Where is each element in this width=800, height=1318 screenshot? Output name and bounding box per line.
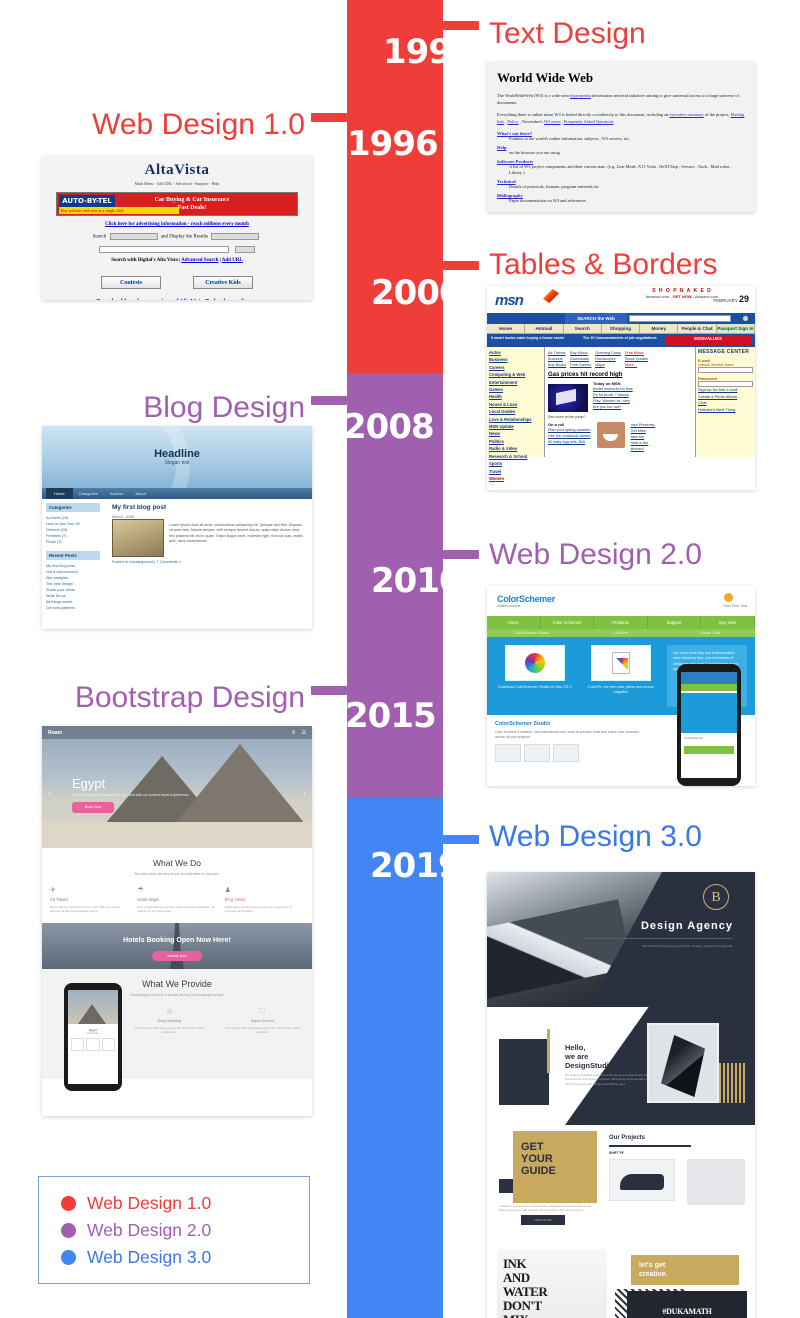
bs-phone-grid: [68, 1035, 118, 1054]
cs-logo: ColorSchemer creative color tools: [497, 594, 555, 608]
da-hello-text: Hello, we are DesignStudio.: [565, 1043, 615, 1070]
cs-card-studio[interactable]: Download ColorSchemer Studio for Mac OS …: [495, 645, 575, 707]
left-link[interactable]: Health: [489, 393, 542, 400]
ink-line-4: DON'T: [503, 1298, 542, 1313]
section-title-web-design-2: Web Design 2.0: [489, 538, 702, 572]
bs-brand[interactable]: Roam: [48, 730, 62, 736]
sidebar-heading-categories: Categories: [46, 503, 100, 512]
www-p2-a: Everything there is online about W3 is l…: [497, 112, 669, 117]
cs-mobile-mockup: ColorSchemer: [677, 664, 741, 786]
bs-cta-title: Hotels Booking Open Now Here!: [42, 937, 312, 944]
msn-body: Autos Business Careers Computing & Web E…: [487, 347, 755, 457]
legend-item-web-design-1: Web Design 1.0: [61, 1190, 309, 1217]
msn-search-bar[interactable]: SEARCH the Web: [487, 313, 755, 324]
cs-nav-home[interactable]: Home: [487, 616, 541, 629]
hello-line-1: Hello,: [565, 1043, 585, 1052]
bs-phone-image: [68, 990, 118, 1024]
sun-icon: [724, 593, 733, 602]
click-icon: ☉: [128, 1008, 211, 1016]
screenshot-text-design[interactable]: World Wide Web The WorldWideWeb (W3) is …: [487, 62, 755, 212]
ink-line-3: WATER: [503, 1284, 547, 1299]
cs-subnav-studio[interactable]: ColorSchemer Studio: [487, 629, 576, 637]
connector-dash-1992: [443, 21, 479, 30]
quick-link-col: Free Music Stock Quotes More...: [625, 350, 648, 368]
creative-line-2: creative.: [639, 1271, 667, 1278]
cs-bottom-body: Color is where it matters. Use professio…: [495, 730, 645, 740]
cs-trial-label[interactable]: Start Free Trial: [723, 604, 747, 608]
bs-mobile-mockup: Egypt Book Now: [64, 983, 122, 1091]
sidebar-heading-recent: Recent Posts: [46, 551, 100, 560]
cs-phone-button[interactable]: [684, 746, 734, 754]
msn-quick-links: Air Tickets Auctions Buy Books Buy Music…: [548, 350, 692, 368]
search-go-icon[interactable]: [742, 315, 749, 322]
bs-section1-sub: We make travel planning simple and affor…: [50, 872, 304, 877]
year-label-1992: 1992: [383, 32, 474, 72]
nav-item-home[interactable]: Home: [487, 324, 525, 333]
guide-line-1: GET: [521, 1141, 544, 1153]
date-month: FEBRUARY: [713, 298, 737, 303]
clock-icon: ⛶: [221, 1008, 304, 1016]
menu-icon[interactable]: ☰: [302, 730, 306, 736]
screenshot-bootstrap-design[interactable]: Roam ⚲ ☰ ‹ › Egypt Discover the ancient …: [42, 726, 312, 1116]
da-dancer-photo: [647, 1023, 719, 1103]
altavista-search-row: Search and Display the Results: [52, 233, 302, 240]
bs-feature: ♟ Blog Views Read travel stories and tip…: [225, 886, 304, 914]
year-label-2008: 2008: [343, 407, 434, 447]
cs-nav: Home Color Schemes Products Support Buy …: [487, 616, 755, 629]
msn-left-nav: Autos Business Careers Computing & Web E…: [487, 347, 545, 457]
nav-item-people-chat[interactable]: People & Chat: [678, 324, 716, 333]
msn-search-input[interactable]: [629, 315, 731, 322]
left-link[interactable]: Games: [489, 386, 542, 393]
msn-header: msn S H O P N A K E D Amazon.com - GET N…: [487, 286, 755, 312]
hello-line-3: DesignStudio.: [565, 1061, 615, 1070]
cs-thumb[interactable]: [495, 744, 521, 762]
connector-dash-2015: [311, 686, 347, 695]
bs-hero: Roam ⚲ ☰ ‹ › Egypt Discover the ancient …: [42, 726, 312, 848]
bs-feature-title: Hotel Stays: [137, 897, 216, 902]
cs-card-colorpix[interactable]: ColorPix, the free color picker and scre…: [581, 645, 661, 707]
blog-headline: Headline: [42, 448, 312, 460]
carousel-next-icon[interactable]: ›: [303, 788, 306, 799]
message-center-title: MESSAGE CENTER: [698, 349, 753, 355]
left-link[interactable]: Business: [489, 356, 542, 363]
creative-kids-button[interactable]: Creative Kids: [193, 276, 253, 289]
search-input[interactable]: [99, 246, 229, 253]
nav-item-money[interactable]: Money: [640, 324, 678, 333]
submit-button[interactable]: [235, 246, 255, 253]
search-icon[interactable]: ⚲: [292, 730, 296, 736]
da-hero-title: Design Agency: [641, 920, 733, 932]
cs-nav-buy-now[interactable]: Buy Now: [701, 616, 755, 629]
blog-nav-about[interactable]: About: [129, 491, 151, 496]
bs-sand: [42, 822, 312, 848]
infographic-page: 1992 1996 2000 2008 2010 2015 2019 Web D…: [0, 0, 800, 1318]
advanced-search-link[interactable]: Advanced Search: [181, 258, 218, 263]
altavista-subline: Search with Digital's Alta Vista | Advan…: [52, 258, 302, 263]
blog-nav: Home Categories Archive About: [42, 488, 312, 499]
bs-hero-title: Egypt: [72, 776, 232, 791]
bs-hero-text: Egypt Discover the ancient wonders of th…: [72, 776, 232, 813]
blog-nav-archive[interactable]: Archive: [104, 491, 129, 496]
quick-link[interactable]: Maps: [595, 362, 621, 368]
color-wheel-icon: [525, 653, 545, 673]
sidebar-link[interactable]: Photo (3): [46, 539, 100, 545]
connector-dash-1996: [311, 113, 347, 122]
bs-cta-banner: Hotels Booking Open Now Here! Browse Now: [42, 923, 312, 969]
nav-item-passport[interactable]: Passport Sign In: [717, 324, 755, 333]
blog-main: Categories Archives (19) How to Use Your…: [42, 499, 312, 629]
msn-values-promo[interactable]: MSNVALUES: [665, 335, 751, 346]
cs-subnav: ColorSchemer Studio ColorPix Online Tool…: [487, 629, 755, 637]
banner-yellow-strip: Buy software and save in a single click: [59, 207, 179, 214]
da-view-more-button[interactable]: VIEW MORE: [521, 1215, 565, 1225]
msn-date: FEBRUARY 29: [713, 294, 749, 304]
email-input[interactable]: [698, 367, 753, 373]
blog-slogan: Slogan text: [42, 460, 312, 466]
da-projects-body: A selection of recent work across brandi…: [499, 1205, 595, 1213]
nav-item-search[interactable]: Search: [564, 324, 602, 333]
legend-label-web-design-2: Web Design 2.0: [87, 1220, 211, 1241]
bs-feature-body: Book flights to anywhere in the world wi…: [50, 905, 129, 914]
da-poster-section: INK AND WATER DON'T MIX let's get creati…: [487, 1243, 755, 1318]
post-footer[interactable]: Posted in Uncategorized | 7 Comments »: [112, 560, 304, 564]
bs-what-we-provide: What We Provide Everything you need for …: [42, 969, 312, 1079]
ad-line-2-b: GET NOW: [673, 294, 692, 299]
nav-item-shopping[interactable]: Shopping: [602, 324, 640, 333]
year-label-1996: 1996: [347, 124, 438, 164]
msn-poll-row: On a roll Plan your spring vacation Use …: [548, 422, 692, 452]
guide-line-2: YOUR: [521, 1153, 553, 1165]
www-link-hypermedia[interactable]: hypermedia: [570, 93, 591, 98]
mc-link[interactable]: Sign up for free e-mail: [698, 387, 753, 394]
post-image: [112, 519, 164, 557]
section-title-blog-design: Blog Design: [20, 391, 305, 425]
da-hero-sub: We build brands that people remember. St…: [583, 944, 733, 948]
left-link[interactable]: Research & School: [489, 453, 542, 460]
cs-logo-text: ColorSchemer: [497, 594, 555, 604]
cs-subnav-online-tools[interactable]: Online Tools: [666, 629, 755, 637]
da-dark-poster: #DUKAMATH BECAUSE THE BEHIND THE EYES: [627, 1291, 747, 1318]
connector-dash-2010: [443, 550, 479, 559]
today-link[interactable]: Are you too rad?: [593, 404, 633, 410]
bs-phone-cell[interactable]: [86, 1038, 99, 1051]
altavista-download-link[interactable]: Download free demo versions of AltaVista…: [52, 299, 302, 300]
left-link[interactable]: Politics: [489, 438, 542, 445]
legend-item-web-design-3: Web Design 3.0: [61, 1244, 309, 1271]
blog-hero: Headline Slogan text: [42, 426, 312, 488]
cs-phone-nav: [681, 684, 737, 691]
connector-dash-2019: [443, 835, 479, 844]
left-link[interactable]: Women: [489, 475, 542, 482]
year-label-2000: 2000: [371, 273, 462, 313]
hello-line-2: we are: [565, 1052, 588, 1061]
bs-feature-title: Air Travel: [50, 897, 129, 902]
sidebar-recent-link[interactable]: Get new patterns: [46, 605, 100, 611]
msn-headline[interactable]: Gas prices hit record high: [548, 372, 692, 378]
mc-link[interactable]: Hotbarn's Next Thing: [698, 407, 753, 414]
tower-silhouette: [170, 923, 184, 969]
www-p2-d: , November's: [519, 119, 544, 124]
nav-item-hotmail[interactable]: Hotmail: [525, 324, 563, 333]
bs-topbar-actions: ⚲ ☰: [292, 730, 306, 736]
www-item-body: A list of W3 project components and thei…: [497, 164, 745, 176]
carousel-prev-icon[interactable]: ‹: [48, 788, 51, 799]
left-link[interactable]: House & Loan: [489, 401, 542, 408]
section-title-tables-borders: Tables & Borders: [489, 248, 717, 282]
cs-thumb[interactable]: [553, 744, 579, 762]
msn-subheader: 9 smart books make buying a house easier…: [487, 334, 755, 347]
bs-provide-item: ⛶ Rapid Service Our support team is avai…: [221, 1008, 304, 1034]
screenshot-web-design-3[interactable]: B Design Agency We build brands that peo…: [487, 872, 755, 1318]
cs-subnav-colorpix[interactable]: ColorPix: [576, 629, 665, 637]
cs-phone-hero: [681, 693, 737, 733]
ink-line-5: MIX: [503, 1312, 528, 1318]
bs-topbar: Roam ⚲ ☰: [42, 726, 312, 739]
altavista-input-row: [52, 246, 302, 253]
search-label: Search: [93, 235, 107, 240]
quick-link-col: Buy Music Downloads Free Games: [570, 350, 591, 368]
mc-link[interactable]: Create a Photo Album: [698, 394, 753, 401]
mountain-photo: [487, 872, 662, 1007]
people-icon: ♟: [225, 886, 304, 894]
blog-sidebar: Categories Archives (19) How to Use Your…: [42, 499, 104, 629]
left-link[interactable]: MSN Update: [489, 423, 542, 430]
da-hatch-pattern: [719, 1063, 745, 1103]
blog-hero-text: Headline Slogan text: [42, 448, 312, 466]
cs-phone-header: [681, 672, 737, 684]
da-square-accent: [499, 1179, 513, 1193]
altavista-ad-link[interactable]: Click here for advertising information -…: [52, 222, 302, 227]
altavista-button-row: Contests Creative Kids: [52, 271, 302, 289]
mc-link[interactable]: Chat: [698, 400, 753, 407]
msn-logo: msn: [495, 292, 523, 309]
section-title-bootstrap-design: Bootstrap Design: [20, 681, 305, 715]
year-label-2010: 2010: [371, 561, 462, 601]
altavista-logo: AltaVista: [52, 162, 302, 179]
cs-header: ColorSchemer creative color tools Start …: [487, 586, 755, 616]
bed-icon: ☂: [137, 886, 216, 894]
quick-link[interactable]: More...: [625, 362, 648, 368]
msn-message-center: MESSAGE CENTER E-mail Hotmail, Member Na…: [695, 347, 755, 457]
search-tab-label: SEARCH the Web: [565, 313, 627, 324]
da-creative-block: let's get creative.: [631, 1255, 739, 1285]
www-link-policy[interactable]: Policy: [507, 119, 518, 124]
legend: Web Design 1.0 Web Design 2.0 Web Design…: [38, 1176, 310, 1284]
legend-label-web-design-1: Web Design 1.0: [87, 1193, 211, 1214]
da-dark-title: #DUKAMATH: [627, 1291, 747, 1316]
left-link[interactable]: Entertainment: [489, 379, 542, 386]
connector-dash-2000: [443, 261, 479, 270]
da-grey-block: [687, 1159, 745, 1205]
quick-link-col: Air Tickets Auctions Buy Books: [548, 350, 566, 368]
bs-feature: ☂ Hotel Stays Find comfortable rooms and…: [137, 886, 216, 914]
left-link[interactable]: Sports: [489, 460, 542, 467]
bs-cta-button[interactable]: Browse Now: [152, 951, 202, 961]
www-link-faq[interactable]: Frequently Asked Questions: [564, 119, 614, 124]
left-link[interactable]: Radio & Video: [489, 445, 542, 452]
banner-brand: AUTO-BY-TEL: [59, 195, 115, 207]
bs-section1-title: What We Do: [50, 858, 304, 868]
guide-line-3: GUIDE: [521, 1165, 556, 1177]
contests-button[interactable]: Contests: [101, 276, 161, 289]
year-label-2015: 2015: [345, 696, 436, 736]
msn-today-block: Today on MSN Better workouts for less Rx…: [593, 381, 633, 412]
da-accent-box: [499, 1039, 549, 1105]
bs-provide-body: Reserve your flight and hotel in a few c…: [128, 1026, 211, 1034]
www-paragraph-2: Everything there is online about W3 is l…: [497, 112, 745, 125]
legend-label-web-design-3: Web Design 3.0: [87, 1247, 211, 1268]
msn-main-column: Air Tickets Auctions Buy Books Buy Music…: [545, 347, 695, 457]
bs-phone-screen: Egypt Book Now: [68, 990, 118, 1084]
left-link[interactable]: Travel: [489, 468, 542, 475]
left-link[interactable]: Careers: [489, 364, 542, 371]
da-projects-head: Our Projects: [609, 1135, 749, 1147]
www-p1-a: The WorldWideWeb (W3) is a wide-area: [497, 93, 570, 98]
www-item-body: on the browser you are using: [497, 150, 745, 156]
legend-dot-blue: [61, 1250, 76, 1265]
section-title-web-design-3: Web Design 3.0: [489, 820, 702, 854]
bs-hero-button[interactable]: Book Now: [72, 802, 114, 813]
cs-nav-products[interactable]: Products: [594, 616, 648, 629]
bs-what-we-do: What We Do We make travel planning simpl…: [42, 848, 312, 923]
cs-phone-screen: ColorSchemer: [681, 672, 737, 778]
cs-nav-color-schemes[interactable]: Color Schemes: [541, 616, 595, 629]
da-projects-title: Our Projects: [609, 1135, 749, 1141]
ad-line-2-a: Amazon.com -: [646, 294, 673, 299]
da-accent-line: [547, 1029, 550, 1073]
quick-link-col: Greeting Cards Horoscopes Maps: [595, 350, 621, 368]
www-item-body: Pointers to the world's online informati…: [497, 136, 745, 142]
section-title-web-design-1: Web Design 1.0: [20, 108, 305, 142]
msn-story-image: [548, 381, 588, 412]
connector-dash-2008: [311, 396, 347, 405]
blog-post: My first blog post March, 2008 Lorem ips…: [104, 499, 312, 629]
www-item-body: Details of protocols, formats, program i…: [497, 184, 745, 190]
msn-nav: Home Hotmail Search Shopping Money Peopl…: [487, 324, 755, 334]
bs-provide-title: Rapid Service: [221, 1019, 304, 1023]
msn-face-caption: msn Presents: Get Mike take the heat in …: [631, 422, 655, 452]
altavista-tagline: Main Menu - Add URL - Advanced - Surpris…: [52, 181, 302, 186]
plane-icon: ✈: [50, 886, 129, 894]
da-shoe-photo: [609, 1159, 675, 1201]
www-paragraph-1: The WorldWideWeb (W3) is a wide-area hyp…: [497, 93, 745, 106]
screenshot-web-design-1[interactable]: AltaVista Main Menu - Add URL - Advanced…: [42, 156, 312, 300]
face-link[interactable]: kitchen!: [631, 446, 655, 452]
bs-phone-cell[interactable]: [102, 1038, 115, 1051]
left-link[interactable]: Computing & Web: [489, 371, 542, 378]
search-display-label: and Display the Results: [161, 235, 208, 240]
www-p2-b: of the project,: [704, 112, 731, 117]
screenshot-tables-borders[interactable]: msn S H O P N A K E D Amazon.com - GET N…: [487, 286, 755, 490]
da-projects-section: GET YOUR GUIDE Our Projects SHIFT FF A s…: [487, 1125, 755, 1243]
left-link[interactable]: News: [489, 430, 542, 437]
da-project-tag: SHIFT FF: [609, 1151, 624, 1155]
subheader-link-2[interactable]: The 10 Commandments of job negotiations: [583, 336, 673, 341]
left-link[interactable]: Love & Relationships: [489, 416, 542, 423]
search-scope-select[interactable]: [110, 233, 158, 240]
bs-hero-sub: Discover the ancient wonders of the worl…: [72, 793, 232, 798]
altavista-banner-ad[interactable]: AUTO-BY-TEL Car Buying & Car Insurance F…: [56, 192, 298, 216]
year-label-2019: 2019: [370, 846, 461, 886]
ink-line-1: INK: [503, 1256, 526, 1271]
bs-feature: ✈ Air Travel Book flights to anywhere in…: [50, 886, 129, 914]
legend-item-web-design-2: Web Design 2.0: [61, 1217, 309, 1244]
blog-nav-categories[interactable]: Categories: [73, 491, 104, 496]
cs-card-caption: Download ColorSchemer Studio for Mac OS …: [495, 685, 575, 690]
poll-link[interactable]: 50 tasty egg rolls, $40: [548, 439, 591, 445]
post-title[interactable]: My first blog post: [112, 504, 304, 511]
www-item-body: Paper documentation on W3 and references…: [497, 198, 745, 204]
legend-dot-red: [61, 1196, 76, 1211]
subline-a: Search with Digital's Alta Vista |: [111, 258, 181, 263]
www-heading: World Wide Web: [497, 70, 745, 86]
ink-line-2: AND: [503, 1270, 530, 1285]
bs-provide-title: Easy Booking: [128, 1019, 211, 1023]
da-divider: [583, 938, 733, 939]
monogram-badge: B: [703, 884, 729, 910]
colorpix-icon: [612, 652, 630, 674]
cs-card-caption: ColorPix, the free color picker and scre…: [581, 685, 661, 695]
left-link[interactable]: Autos: [489, 349, 542, 356]
banner-line-1: Car Buying & Car Insurance: [155, 197, 230, 203]
www-link-executive-summary[interactable]: executive summary: [669, 112, 703, 117]
da-projects-rule: [609, 1145, 691, 1147]
cs-logo-sub: creative color tools: [497, 604, 555, 608]
quick-link[interactable]: Free Games: [570, 362, 591, 368]
section-title-text-design: Text Design: [489, 17, 646, 51]
cs-phone-text: ColorSchemer: [681, 733, 737, 743]
banner-line-2: Fast Deals!: [178, 205, 207, 211]
add-url-link[interactable]: Add URL: [222, 258, 243, 263]
msn-face-photo: [597, 422, 625, 448]
blog-nav-home[interactable]: Home: [46, 488, 73, 499]
promo-title: MSNVALUES: [694, 336, 722, 341]
bs-feature-body: Read travel stories and tips from our co…: [225, 905, 304, 914]
cs-nav-support[interactable]: Support: [648, 616, 702, 629]
subheader-link-1[interactable]: 9 smart books make buying a house easier: [491, 336, 571, 341]
creative-line-1: let's get: [639, 1262, 665, 1269]
left-link[interactable]: Local Guides: [489, 408, 542, 415]
www-link-w3-news[interactable]: W3 news: [544, 119, 560, 124]
screenshot-blog-design[interactable]: Headline Slogan text Home Categories Arc…: [42, 426, 312, 629]
da-ink-poster: INK AND WATER DON'T MIX: [497, 1249, 607, 1318]
bs-phone-cell[interactable]: [71, 1038, 84, 1051]
da-hero: B Design Agency We build brands that peo…: [487, 872, 755, 1007]
date-day: 29: [739, 294, 749, 304]
cs-thumb[interactable]: [524, 744, 550, 762]
cs-card-image: [505, 645, 565, 681]
bs-feature-columns: ✈ Air Travel Book flights to anywhere in…: [50, 886, 304, 914]
search-format-select[interactable]: [211, 233, 259, 240]
msn-butterfly-icon: [543, 289, 559, 303]
quick-link[interactable]: Buy Books: [548, 362, 566, 368]
cs-card-image: [591, 645, 651, 681]
screenshot-web-design-2[interactable]: ColorSchemer creative color tools Start …: [487, 586, 755, 786]
bs-feature-body: Find comfortable rooms and suites at hot…: [137, 905, 216, 914]
da-about-section: Hello, we are DesignStudio. We make a th…: [487, 1007, 755, 1125]
msn-poll-block: On a roll Plan your spring vacation Use …: [548, 422, 591, 452]
bs-provide-body: Our support team is available around the…: [221, 1026, 304, 1034]
msn-see-more: See more at the pump?: [548, 415, 692, 419]
msn-story-row: Today on MSN Better workouts for less Rx…: [548, 381, 692, 412]
bs-feature-title: Blog Views: [225, 897, 304, 902]
legend-dot-purple: [61, 1223, 76, 1238]
bs-provide-item: ☉ Easy Booking Reserve your flight and h…: [128, 1008, 211, 1034]
da-guide-block: GET YOUR GUIDE: [513, 1131, 597, 1203]
